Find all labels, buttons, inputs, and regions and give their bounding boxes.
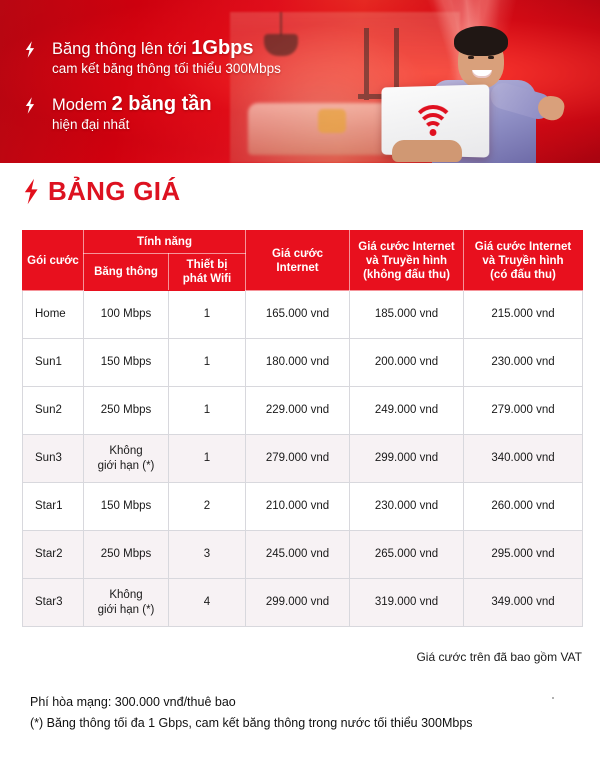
- cell-wifi-devices: 1: [169, 387, 246, 435]
- banner-bullet-1: Băng thông lên tới 1Gbps cam kết băng th…: [22, 38, 352, 78]
- table-row: Home100 Mbps1165.000 vnd185.000 vnd215.0…: [23, 291, 583, 339]
- cell-plan: Sun2: [23, 387, 84, 435]
- cell-wifi-devices: 1: [169, 435, 246, 483]
- table-row: Sun3Khônggiới hạn (*)1279.000 vnd299.000…: [23, 435, 583, 483]
- cell-internet-tv-no-box: 200.000 vnd: [350, 339, 464, 387]
- wifi-icon: [414, 105, 453, 138]
- header-internet-tv-no-box-line3: (không đấu thu): [363, 269, 450, 281]
- cell-plan: Sun3: [23, 435, 84, 483]
- banner-bullet-1-line1: Băng thông lên tới 1Gbps: [52, 38, 352, 59]
- banner-bullet-1-prefix: Băng thông lên tới: [52, 40, 191, 58]
- cell-internet-price: 245.000 vnd: [246, 531, 350, 579]
- table-header-row-1: Gói cước Tính năng Giá cước Internet Giá…: [23, 231, 583, 254]
- header-internet-tv-box: Giá cước Internet và Truyền hình (có đấu…: [464, 231, 583, 291]
- cell-internet-tv-no-box: 299.000 vnd: [350, 435, 464, 483]
- person-hair: [454, 26, 508, 56]
- header-internet-price: Giá cước Internet: [246, 231, 350, 291]
- vat-note: Giá cước trên đã bao gồm VAT: [22, 650, 582, 664]
- cell-bandwidth: 100 Mbps: [84, 291, 169, 339]
- cell-internet-price: 210.000 vnd: [246, 483, 350, 531]
- person-eye-right: [488, 56, 494, 59]
- table-header: Gói cước Tính năng Giá cước Internet Giá…: [23, 231, 583, 291]
- stray-dot: [552, 697, 554, 699]
- numeral-four-diagonal: [364, 28, 369, 100]
- cell-bandwidth-line2: giới hạn (*): [98, 604, 155, 616]
- banner-bullet-2-prefix: Modem: [52, 96, 112, 114]
- banner-bullet-1-line2: cam kết băng thông tối thiểu 300Mbps: [52, 59, 352, 78]
- header-internet-tv-no-box-line1: Giá cước Internet: [358, 241, 454, 253]
- header-internet-tv-box-line3: (có đấu thu): [490, 269, 556, 281]
- cell-internet-price: 165.000 vnd: [246, 291, 350, 339]
- table-row: Sun2250 Mbps1229.000 vnd249.000 vnd279.0…: [23, 387, 583, 435]
- cell-bandwidth: 250 Mbps: [84, 387, 169, 435]
- cell-bandwidth-line1: Không: [109, 445, 142, 457]
- header-internet-tv-box-line1: Giá cước Internet: [475, 241, 571, 253]
- lightning-bolt-icon: [24, 97, 35, 114]
- cell-bandwidth: Khônggiới hạn (*): [84, 579, 169, 627]
- cell-internet-tv-no-box: 185.000 vnd: [350, 291, 464, 339]
- table-row: Star1150 Mbps2210.000 vnd230.000 vnd260.…: [23, 483, 583, 531]
- header-bandwidth: Băng thông: [84, 254, 169, 291]
- banner-bullet-2-line1: Modem 2 băng tần: [52, 94, 352, 115]
- cell-internet-tv-no-box: 319.000 vnd: [350, 579, 464, 627]
- cell-plan: Star1: [23, 483, 84, 531]
- header-plan: Gói cước: [23, 231, 84, 291]
- header-internet-tv-no-box-line2: và Truyền hình: [366, 255, 447, 267]
- cell-internet-tv-box: 230.000 vnd: [464, 339, 583, 387]
- cell-internet-price: 299.000 vnd: [246, 579, 350, 627]
- page-title: BẢNG GIÁ: [48, 177, 180, 205]
- cell-bandwidth: 250 Mbps: [84, 531, 169, 579]
- lightning-bolt-icon: [22, 178, 39, 205]
- header-internet-tv-no-box: Giá cước Internet và Truyền hình (không …: [350, 231, 464, 291]
- promo-banner: Băng thông lên tới 1Gbps cam kết băng th…: [0, 0, 600, 163]
- table-body: Home100 Mbps1165.000 vnd185.000 vnd215.0…: [23, 291, 583, 627]
- cell-wifi-devices: 3: [169, 531, 246, 579]
- lamp-pole: [280, 12, 282, 36]
- cell-internet-tv-box: 260.000 vnd: [464, 483, 583, 531]
- cell-internet-tv-no-box: 265.000 vnd: [350, 531, 464, 579]
- cell-plan: Star2: [23, 531, 84, 579]
- cell-wifi-devices: 4: [169, 579, 246, 627]
- cell-bandwidth-line1: Không: [109, 589, 142, 601]
- cell-internet-tv-no-box: 249.000 vnd: [350, 387, 464, 435]
- cell-internet-tv-box: 215.000 vnd: [464, 291, 583, 339]
- footnote-installation-fee: Phí hòa mạng: 300.000 vnđ/thuê bao: [30, 692, 473, 713]
- cell-bandwidth: 150 Mbps: [84, 483, 169, 531]
- cell-internet-price: 180.000 vnd: [246, 339, 350, 387]
- footnote-bandwidth: (*) Băng thông tối đa 1 Gbps, cam kết bă…: [30, 713, 473, 734]
- price-section-title: BẢNG GIÁ: [22, 177, 180, 205]
- banner-bullet-2: Modem 2 băng tần hiện đại nhất: [22, 94, 352, 134]
- cell-plan: Star3: [23, 579, 84, 627]
- table-row: Sun1150 Mbps1180.000 vnd200.000 vnd230.0…: [23, 339, 583, 387]
- cell-bandwidth-line2: giới hạn (*): [98, 460, 155, 472]
- person-holding-hands: [392, 140, 462, 162]
- lightning-bolt-icon: [24, 41, 35, 58]
- cell-plan: Home: [23, 291, 84, 339]
- banner-bullet-1-strong: 1Gbps: [191, 37, 253, 59]
- header-features-group: Tính năng: [84, 231, 246, 254]
- header-internet-price-line1: Giá cước: [272, 248, 323, 260]
- cell-internet-tv-box: 349.000 vnd: [464, 579, 583, 627]
- table-row: Star2250 Mbps3245.000 vnd265.000 vnd295.…: [23, 531, 583, 579]
- cell-plan: Sun1: [23, 339, 84, 387]
- cell-bandwidth: Khônggiới hạn (*): [84, 435, 169, 483]
- person-eye-left: [468, 56, 474, 59]
- footnotes: Phí hòa mạng: 300.000 vnđ/thuê bao (*) B…: [30, 692, 473, 734]
- cell-internet-price: 229.000 vnd: [246, 387, 350, 435]
- cell-wifi-devices: 2: [169, 483, 246, 531]
- banner-bullet-2-strong: 2 băng tần: [112, 93, 212, 115]
- cell-internet-tv-box: 340.000 vnd: [464, 435, 583, 483]
- header-internet-tv-box-line2: và Truyền hình: [482, 255, 563, 267]
- cell-internet-tv-box: 295.000 vnd: [464, 531, 583, 579]
- banner-copy: Băng thông lên tới 1Gbps cam kết băng th…: [22, 38, 352, 134]
- cell-internet-tv-box: 279.000 vnd: [464, 387, 583, 435]
- cell-bandwidth: 150 Mbps: [84, 339, 169, 387]
- banner-bullet-2-line2: hiện đại nhất: [52, 115, 352, 134]
- cell-internet-price: 279.000 vnd: [246, 435, 350, 483]
- header-wifi-device: Thiết bịphát Wifi: [169, 254, 246, 291]
- cell-wifi-devices: 1: [169, 291, 246, 339]
- table-row: Star3Khônggiới hạn (*)4299.000 vnd319.00…: [23, 579, 583, 627]
- cell-wifi-devices: 1: [169, 339, 246, 387]
- price-table: Gói cước Tính năng Giá cước Internet Giá…: [22, 230, 583, 627]
- cell-internet-tv-no-box: 230.000 vnd: [350, 483, 464, 531]
- header-internet-price-line2: Internet: [276, 262, 318, 274]
